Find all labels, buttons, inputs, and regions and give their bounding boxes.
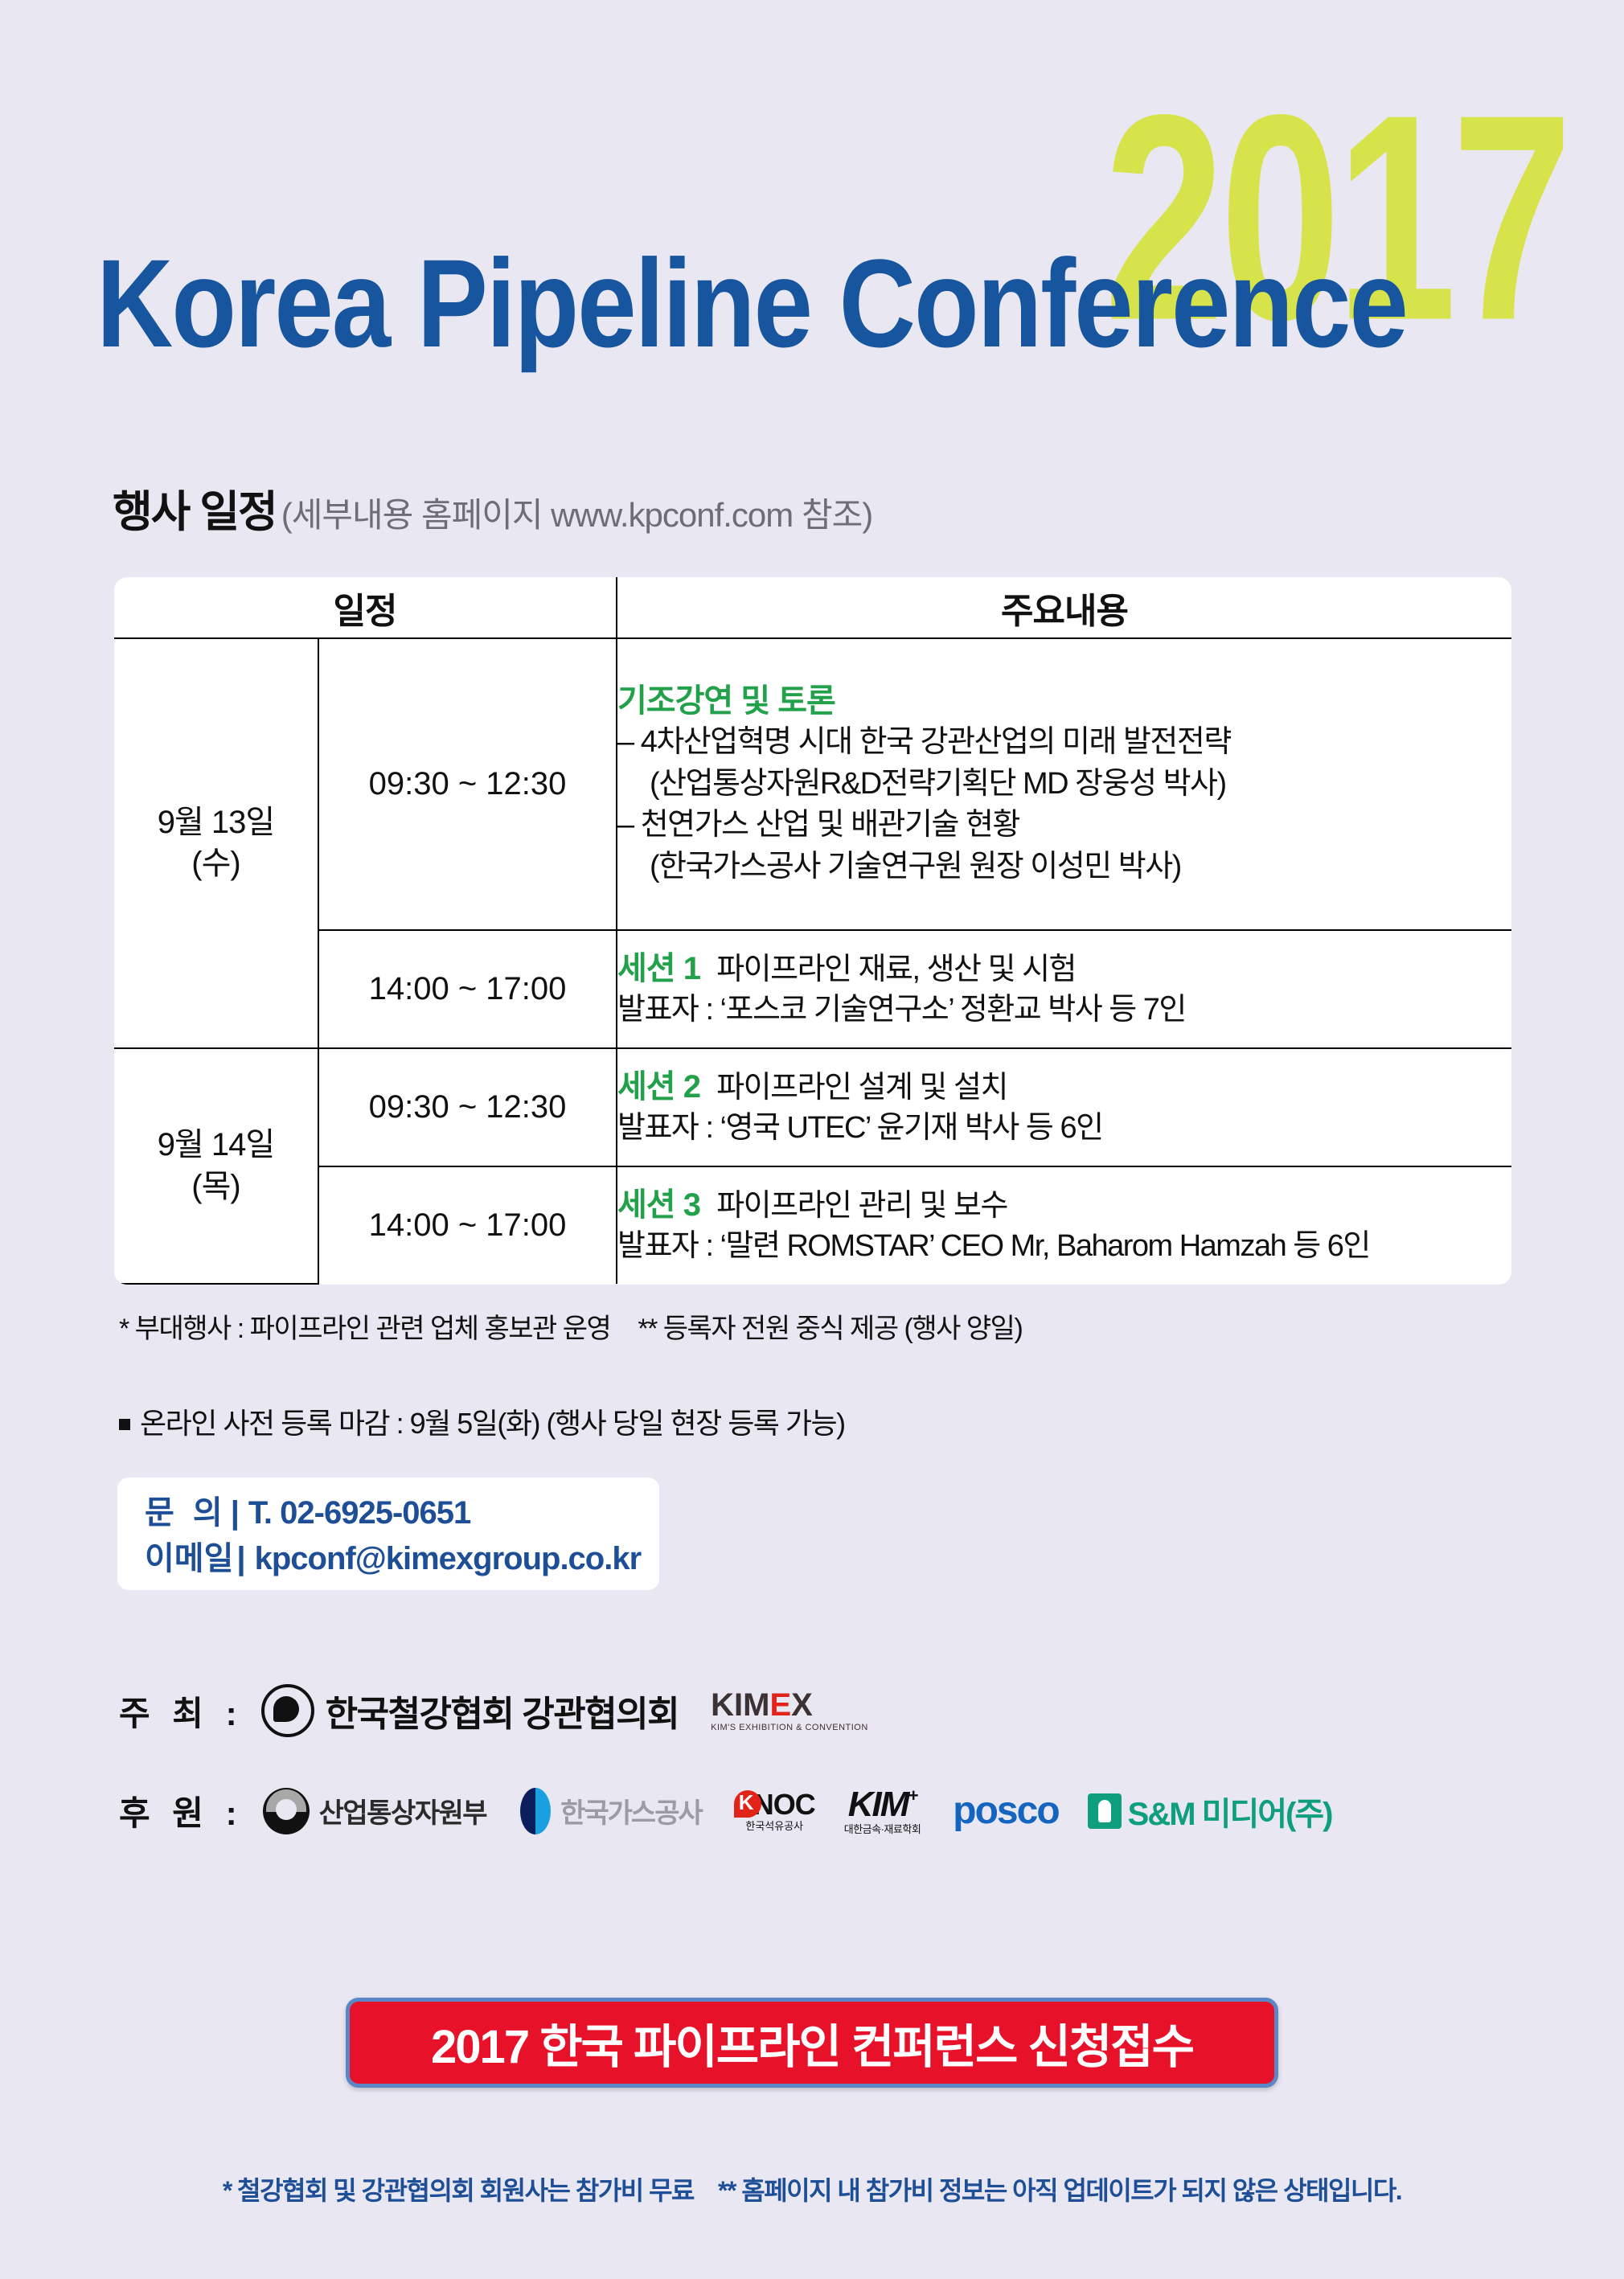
session-label-1: 세션 1 파이프라인 재료, 생산 및 시험 <box>617 948 1511 990</box>
posco-logo-icon: posco <box>953 1789 1058 1833</box>
table-row: 14:00 ~ 17:00 세션 1 파이프라인 재료, 생산 및 시험 발표자… <box>114 930 1511 1048</box>
sm-mark-icon <box>1088 1793 1122 1829</box>
session-label-3: 세션 3 파이프라인 관리 및 보수 <box>617 1184 1511 1226</box>
apply-button[interactable]: 2017 한국 파이프라인 컨퍼런스 신청접수 <box>346 1998 1278 2088</box>
table-header-content: 주요내용 <box>617 577 1511 638</box>
session-number-3: 세션 3 <box>617 1187 700 1223</box>
session-topic-2: 파이프라인 설계 및 설치 <box>716 1071 1007 1105</box>
kim-letters: KIM <box>848 1785 908 1824</box>
apply-button-label: 2017 한국 파이프라인 컨퍼런스 신청접수 <box>431 2009 1193 2076</box>
note-deadline: 온라인 사전 등록 마감 : 9월 5일(화) (행사 당일 현장 등록 가능) <box>119 1400 845 1442</box>
knoc-letters: NOC <box>753 1788 815 1821</box>
date-line-1: 9월 13일 <box>114 802 318 843</box>
schedule-heading: 행사 일정(세부내용 홈페이지 www.kpconf.com 참조) <box>113 490 872 534</box>
session-topic-1: 파이프라인 재료, 생산 및 시험 <box>716 953 1076 986</box>
kimex-wordmark: KIMEX <box>711 1689 868 1721</box>
session-topic-3: 파이프라인 관리 및 보수 <box>716 1189 1007 1223</box>
cell-date-day1: 9월 13일 (수) <box>114 638 318 1048</box>
kim-logo-icon: KIM+ 대한금속·재료학회 <box>844 1787 921 1834</box>
contact-phone-value[interactable]: T. 02-6925-0651 <box>248 1495 470 1531</box>
kim-wordmark: KIM+ <box>844 1787 921 1822</box>
keynote-line-2: (산업통상자원R&D전략기획단 MD 장웅성 박사) <box>617 764 1511 805</box>
cell-time-1: 09:30 ~ 12:30 <box>318 638 617 930</box>
keynote-line-1: – 4차산업혁명 시대 한국 강관산업의 미래 발전전략 <box>617 722 1511 764</box>
bullet-icon <box>119 1419 130 1430</box>
cell-time-3: 09:30 ~ 12:30 <box>318 1048 617 1166</box>
kogas-logo-icon <box>520 1788 551 1834</box>
keynote-line-4: (한국가스공사 기술연구원 원장 이성민 박사) <box>617 846 1511 888</box>
table-row: 9월 14일 (목) 09:30 ~ 12:30 세션 2 파이프라인 설계 및… <box>114 1048 1511 1166</box>
kim-sub: 대한금속·재료학회 <box>844 1824 921 1834</box>
contact-box: 문 의|T. 02-6925-0651 이메일|kpconf@kimexgrou… <box>117 1478 659 1590</box>
sponsor-row: 후 원 : 산업통상자원부 한국가스공사 KNOC 한국석유공사 KIM+ 대한… <box>119 1786 1331 1835</box>
note-deadline-text: 온라인 사전 등록 마감 : 9월 5일(화) (행사 당일 현장 등록 가능) <box>140 1407 845 1440</box>
bottom-note-2: ** 홈페이지 내 참가비 정보는 아직 업데이트가 되지 않은 상태입니다. <box>718 2176 1401 2205</box>
knoc-k-mark-icon: K <box>734 1790 761 1818</box>
date-line-2: (목) <box>114 1166 318 1207</box>
contact-email-value[interactable]: kpconf@kimexgroup.co.kr <box>255 1541 642 1576</box>
note-extras: * 부대행사 : 파이프라인 관련 업체 홍보관 운영** 등록자 전원 중식 … <box>119 1306 1022 1346</box>
schedule-heading-sub: (세부내용 홈페이지 www.kpconf.com 참조) <box>281 496 872 534</box>
session-label-2: 세션 2 파이프라인 설계 및 설치 <box>617 1066 1511 1108</box>
kim-plus-icon: + <box>908 1785 917 1806</box>
host-name: 한국철강협회 강관협의회 <box>326 1685 679 1736</box>
bottom-note: * 철강협회 및 강관협의회 회원사는 참가비 무료** 홈페이지 내 참가비 … <box>0 2170 1624 2207</box>
table-header-date: 일정 <box>114 577 617 638</box>
contact-phone-label: 문 의 <box>145 1495 228 1531</box>
kimex-part-1: KIM <box>711 1687 769 1723</box>
sponsor-label: 후 원 : <box>119 1786 244 1835</box>
motie-logo-icon <box>263 1788 310 1834</box>
note-extra-2: ** 등록자 전원 중식 제공 (행사 양일) <box>638 1314 1022 1344</box>
sm-media-logo-icon: S&M 미디어(주) <box>1088 1788 1332 1834</box>
cell-content-4: 세션 3 파이프라인 관리 및 보수 발표자 : ‘말련 ROMSTAR’ CE… <box>617 1166 1511 1284</box>
session-label-keynote: 기조강연 및 토론 <box>617 680 1511 722</box>
kogas-name: 한국가스공사 <box>560 1791 702 1830</box>
knoc-sub: 한국석유공사 <box>734 1821 815 1831</box>
cell-date-day2: 9월 14일 (목) <box>114 1048 318 1284</box>
schedule-heading-main: 행사 일정 <box>113 488 277 536</box>
date-line-2: (수) <box>114 843 318 884</box>
bottom-note-1: * 철강협회 및 강관협의회 회원사는 참가비 무료 <box>223 2176 694 2205</box>
table-row: 14:00 ~ 17:00 세션 3 파이프라인 관리 및 보수 발표자 : ‘… <box>114 1166 1511 1284</box>
session-number-1: 세션 1 <box>617 951 700 986</box>
motie-name: 산업통상자원부 <box>319 1791 486 1830</box>
knoc-logo-icon: KNOC 한국석유공사 <box>734 1790 815 1831</box>
cell-content-3: 세션 2 파이프라인 설계 및 설치 발표자 : ‘영국 UTEC’ 윤기재 박… <box>617 1048 1511 1166</box>
kimex-part-3: X <box>791 1687 813 1723</box>
session-presenter-1: 발표자 : ‘포스코 기술연구소’ 정환교 박사 등 7인 <box>617 990 1511 1031</box>
kimex-part-2: E <box>769 1687 791 1723</box>
keynote-line-3: – 천연가스 산업 및 배관기술 현황 <box>617 805 1511 846</box>
date-line-1: 9월 14일 <box>114 1125 318 1166</box>
cell-time-2: 14:00 ~ 17:00 <box>318 930 617 1048</box>
cell-content-2: 세션 1 파이프라인 재료, 생산 및 시험 발표자 : ‘포스코 기술연구소’… <box>617 930 1511 1048</box>
host-label: 주 최 : <box>119 1687 244 1736</box>
poster-header: 2017 Korea Pipeline Conference <box>0 0 1624 418</box>
knoc-wordmark: KNOC <box>734 1790 815 1819</box>
kimex-tagline: KIM'S EXHIBITION & CONVENTION <box>711 1724 868 1732</box>
sm-media-name: S&M 미디어(주) <box>1128 1788 1332 1834</box>
schedule-table: 일정 주요내용 9월 13일 (수) 09:30 ~ 12:30 기조강연 및 … <box>114 577 1511 1285</box>
knoc-k-letter: K <box>739 1792 753 1813</box>
cell-time-4: 14:00 ~ 17:00 <box>318 1166 617 1284</box>
kosa-seal-icon <box>261 1684 314 1737</box>
table-header-row: 일정 주요내용 <box>114 577 1511 638</box>
contact-email-line: 이메일|kpconf@kimexgroup.co.kr <box>145 1536 659 1582</box>
note-extra-1: * 부대행사 : 파이프라인 관련 업체 홍보관 운영 <box>119 1314 610 1344</box>
page-title: Korea Pipeline Conference <box>96 241 1407 367</box>
table-row: 9월 13일 (수) 09:30 ~ 12:30 기조강연 및 토론 – 4차산… <box>114 638 1511 930</box>
session-presenter-3: 발표자 : ‘말련 ROMSTAR’ CEO Mr, Baharom Hamza… <box>617 1226 1511 1267</box>
session-presenter-2: 발표자 : ‘영국 UTEC’ 윤기재 박사 등 6인 <box>617 1108 1511 1149</box>
contact-phone-line: 문 의|T. 02-6925-0651 <box>145 1490 659 1536</box>
kimex-logo-icon: KIMEX KIM'S EXHIBITION & CONVENTION <box>711 1689 868 1732</box>
cell-content-1: 기조강연 및 토론 – 4차산업혁명 시대 한국 강관산업의 미래 발전전략 (… <box>617 638 1511 930</box>
contact-email-label: 이메일 <box>145 1541 233 1576</box>
host-row: 주 최 : 한국철강협회 강관협의회 KIMEX KIM'S EXHIBITIO… <box>119 1684 868 1737</box>
session-number-2: 세션 2 <box>617 1069 700 1105</box>
